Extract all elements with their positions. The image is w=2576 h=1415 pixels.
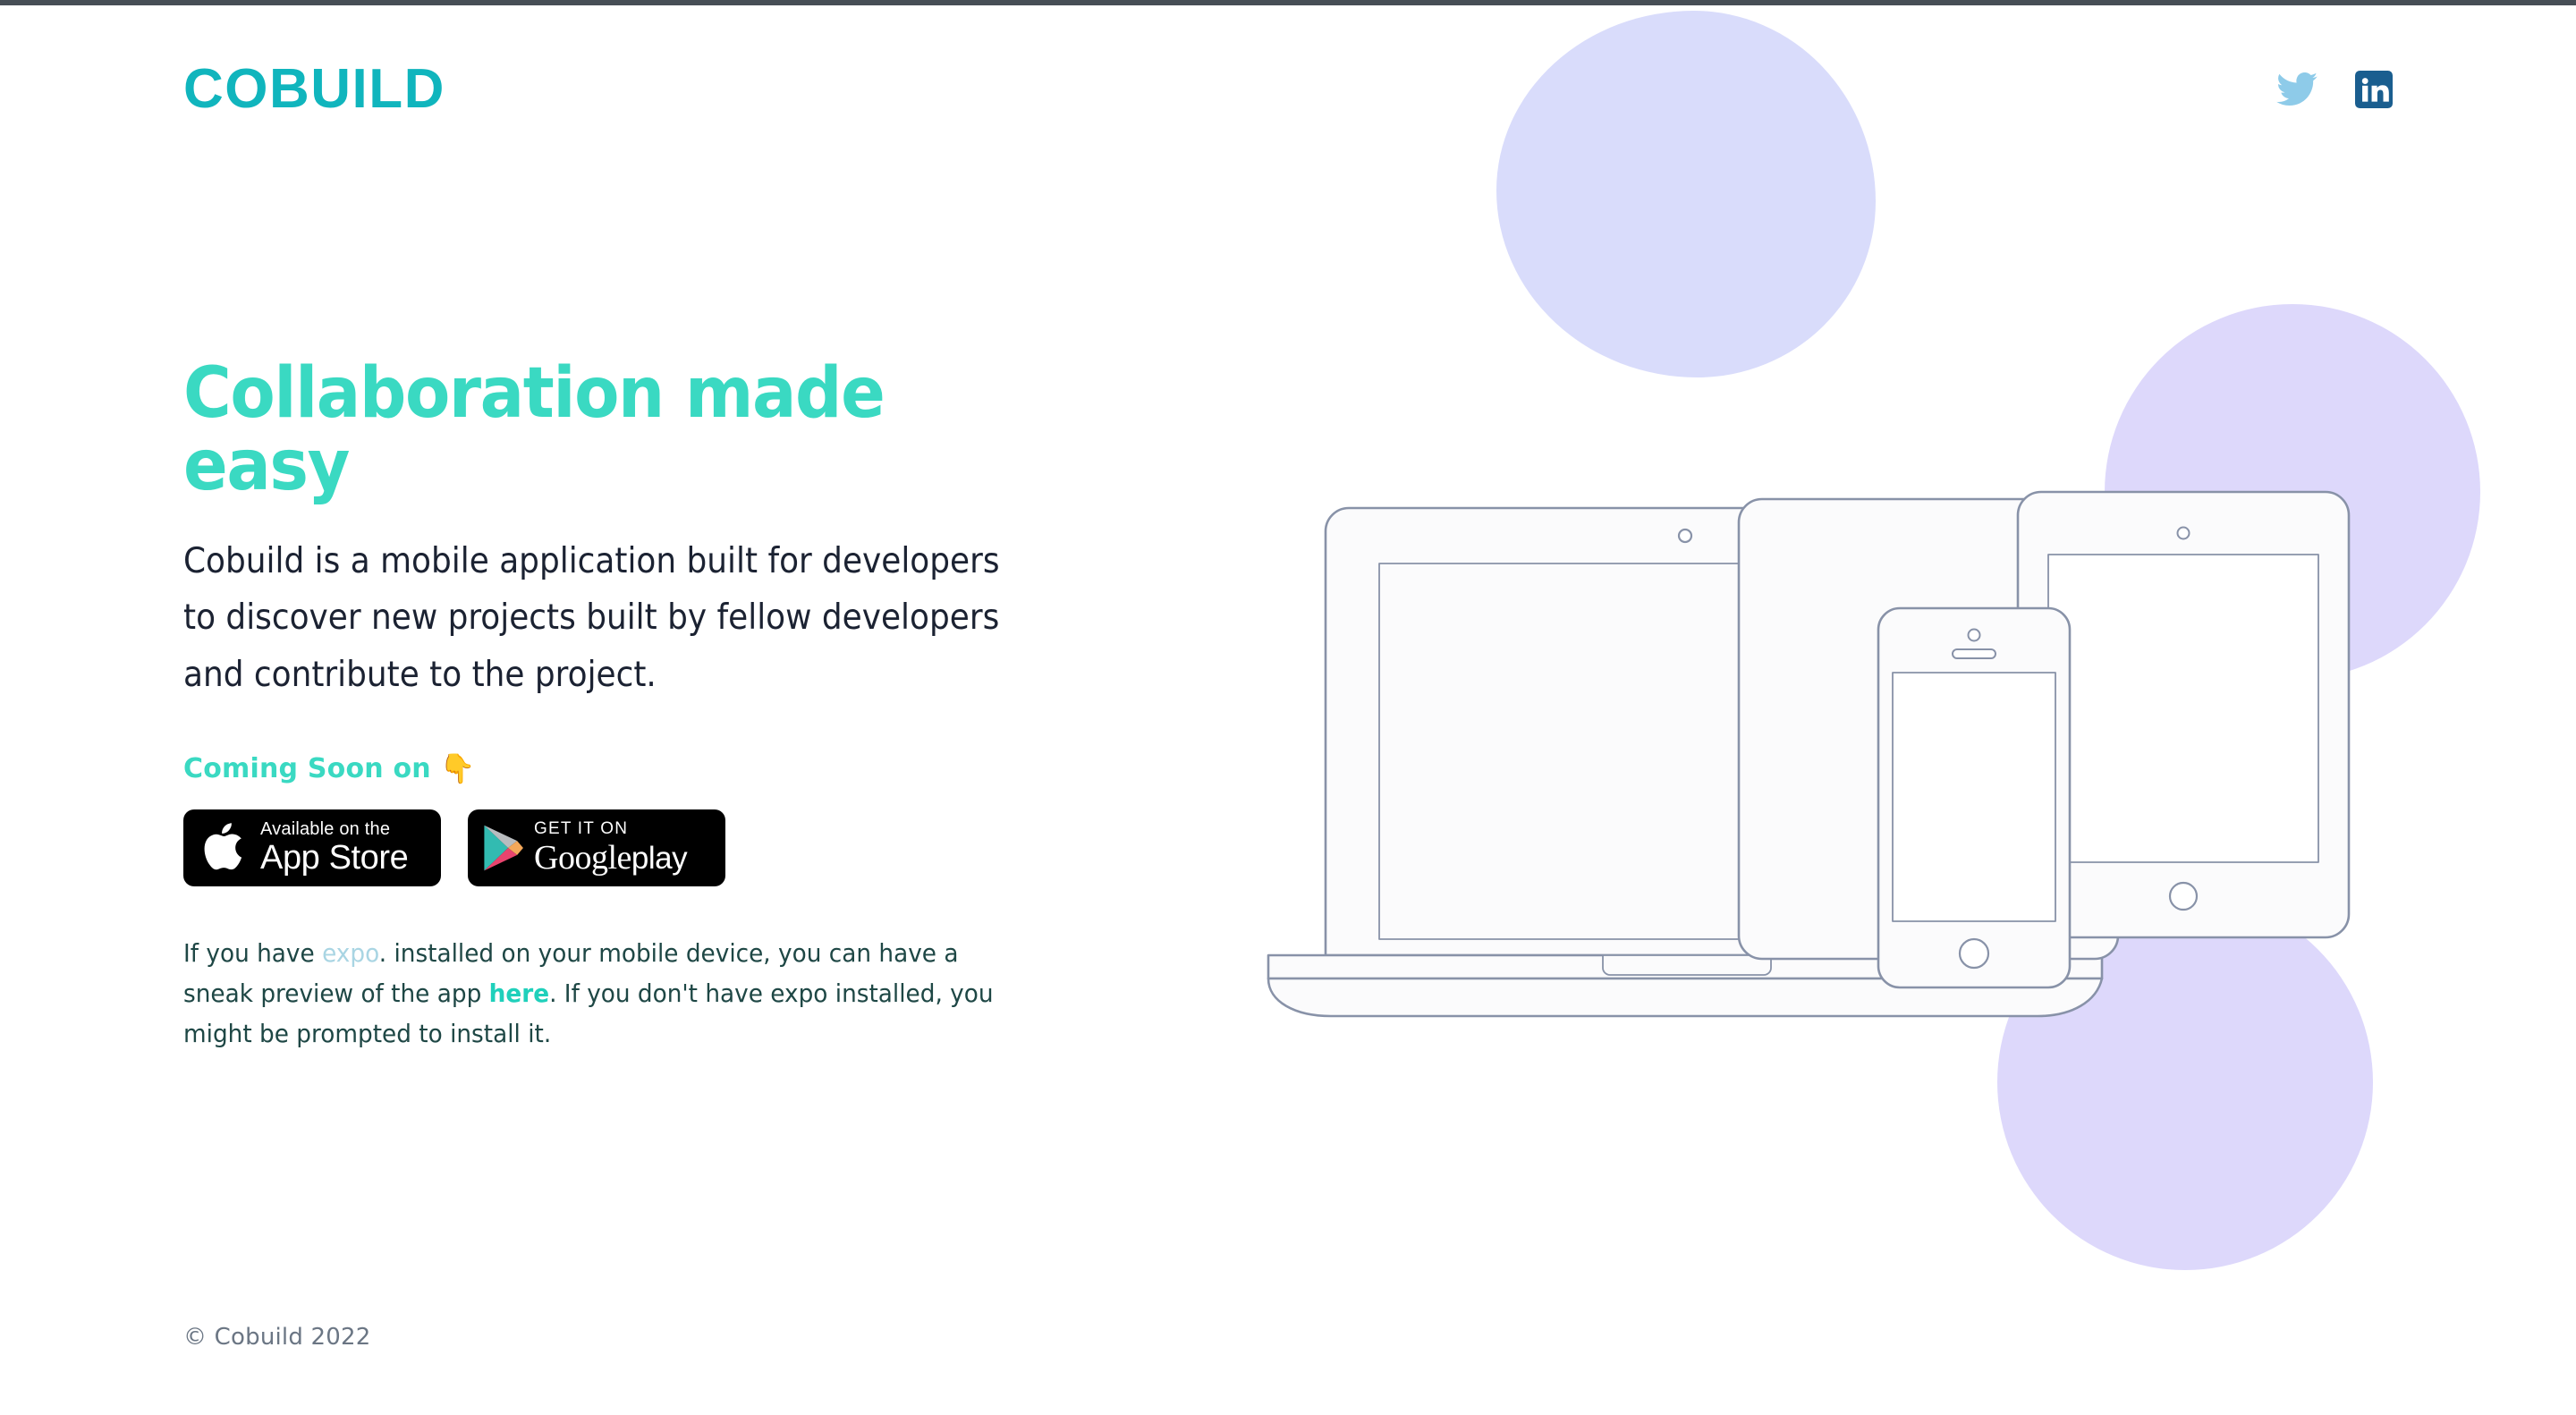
expo-link[interactable]: expo <box>322 938 379 968</box>
google-play-line2: Googleplay <box>534 841 687 877</box>
expo-note: If you have expo. installed on your mobi… <box>183 933 1012 1055</box>
app-store-line1: Available on the <box>260 819 408 840</box>
expo-note-part1: If you have <box>183 938 322 968</box>
social-links <box>2276 71 2393 108</box>
google-play-line1: GET IT ON <box>534 819 687 840</box>
app-store-line2: App Store <box>260 841 408 877</box>
linkedin-icon[interactable] <box>2355 71 2393 108</box>
page-root: COBUILD Collaboration made easy Cobuild … <box>0 0 2576 1415</box>
coming-soon-text: Coming Soon on <box>183 753 431 784</box>
here-link[interactable]: here <box>489 979 549 1008</box>
copyright-text: © Cobuild 2022 <box>183 1324 371 1351</box>
apple-logo-icon <box>201 820 248 876</box>
site-footer: © Cobuild 2022 <box>183 1324 371 1351</box>
play-word: play <box>631 841 687 876</box>
google-play-triangle-icon <box>482 824 525 872</box>
hero-description: Cobuild is a mobile application built fo… <box>183 533 1006 703</box>
site-header: COBUILD <box>0 0 2576 179</box>
google-play-button[interactable]: GET IT ON Googleplay <box>468 809 725 886</box>
twitter-icon[interactable] <box>2276 72 2318 106</box>
hero-section: Collaboration made easy Cobuild is a mob… <box>183 358 1167 1055</box>
page-title: Collaboration made easy <box>183 358 906 503</box>
app-store-button[interactable]: Available on the App Store <box>183 809 441 886</box>
google-word: Google <box>534 839 631 877</box>
brand-logo[interactable]: COBUILD <box>183 62 445 117</box>
devices-illustration <box>1252 465 2469 1109</box>
store-badges: Available on the App Store GET IT ON Goo… <box>183 809 1167 886</box>
coming-soon-label: Coming Soon on 👇 <box>183 753 1167 784</box>
pointing-down-icon: 👇 <box>440 754 476 783</box>
browser-chrome-bar <box>0 0 2576 5</box>
